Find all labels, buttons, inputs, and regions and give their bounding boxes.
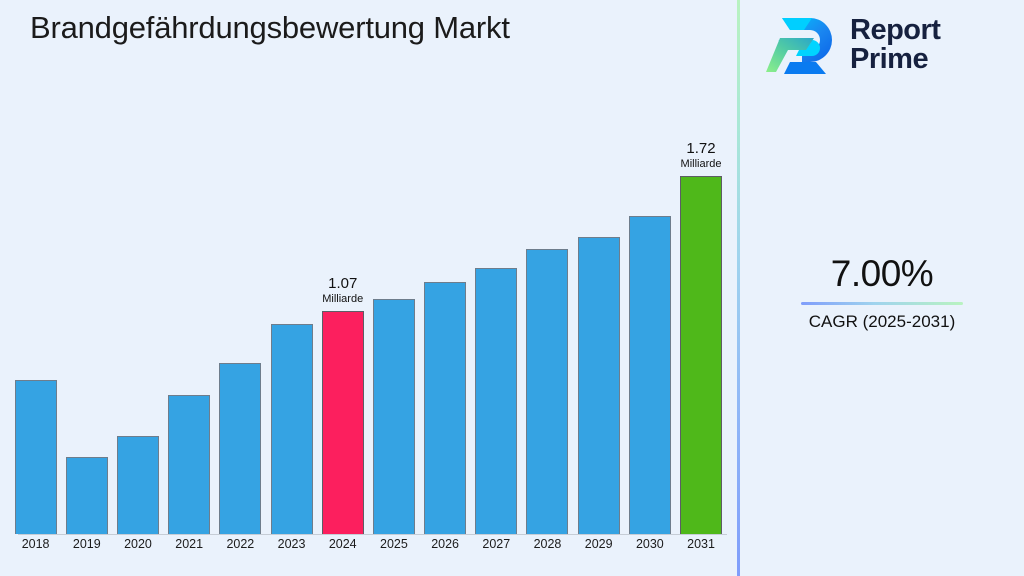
bar-value-2031: 1.72 [681, 141, 722, 158]
cagr-divider-rule [801, 302, 963, 305]
x-tick-2025: 2025 [368, 537, 419, 551]
bar-2031[interactable] [680, 176, 722, 534]
cagr-label: CAGR (2025-2031) [740, 312, 1024, 332]
brand-name-line1: Report [850, 16, 940, 45]
bar-slot-2018 [10, 120, 61, 534]
x-tick-2018: 2018 [10, 537, 61, 551]
bar-2026[interactable] [424, 282, 466, 534]
chart-plot-area: 1.07Milliarde1.72Milliarde [10, 120, 727, 535]
brand-name: Report Prime [850, 16, 940, 74]
bar-value-label-2031: 1.72Milliarde [681, 141, 722, 170]
report-prime-logo-icon [766, 12, 840, 78]
x-tick-2022: 2022 [215, 537, 266, 551]
cagr-value: 7.00% [740, 255, 1024, 294]
bar-2027[interactable] [475, 268, 517, 534]
brand-logo: Report Prime [766, 12, 940, 78]
bar-series: 1.07Milliarde1.72Milliarde [10, 120, 727, 534]
bar-slot-2028 [522, 120, 573, 534]
x-tick-2019: 2019 [61, 537, 112, 551]
x-tick-2029: 2029 [573, 537, 624, 551]
bar-slot-2021 [164, 120, 215, 534]
bar-2030[interactable] [629, 216, 671, 534]
bar-slot-2027 [471, 120, 522, 534]
bar-slot-2022 [215, 120, 266, 534]
brand-name-line2: Prime [850, 45, 940, 74]
cagr-block: 7.00% CAGR (2025-2031) [740, 255, 1024, 332]
x-tick-2020: 2020 [112, 537, 163, 551]
bar-value-label-2024: 1.07Milliarde [322, 276, 363, 305]
bar-2020[interactable] [117, 436, 159, 534]
bar-2028[interactable] [526, 249, 568, 534]
bar-2022[interactable] [219, 363, 261, 534]
bar-unit-2031: Milliarde [681, 158, 722, 170]
bar-slot-2023 [266, 120, 317, 534]
x-tick-2026: 2026 [420, 537, 471, 551]
x-axis-tick-labels: 2018201920202021202220232024202520262027… [10, 537, 727, 551]
x-tick-2023: 2023 [266, 537, 317, 551]
x-tick-2027: 2027 [471, 537, 522, 551]
bar-2018[interactable] [15, 380, 57, 534]
bar-2019[interactable] [66, 457, 108, 534]
bar-2029[interactable] [578, 237, 620, 534]
chart-panel: Brandgefährdungsbewertung Markt 1.07Mill… [0, 0, 737, 576]
slide-root: Brandgefährdungsbewertung Markt 1.07Mill… [0, 0, 1024, 576]
bar-slot-2025 [368, 120, 419, 534]
x-tick-2030: 2030 [624, 537, 675, 551]
x-tick-2031: 2031 [675, 537, 726, 551]
bar-slot-2019 [61, 120, 112, 534]
x-tick-2024: 2024 [317, 537, 368, 551]
bar-unit-2024: Milliarde [322, 293, 363, 305]
bar-2024[interactable] [322, 311, 364, 534]
bar-slot-2026 [420, 120, 471, 534]
bar-slot-2029 [573, 120, 624, 534]
bar-slot-2024: 1.07Milliarde [317, 120, 368, 534]
page-title: Brandgefährdungsbewertung Markt [30, 10, 510, 46]
bar-slot-2030 [624, 120, 675, 534]
x-tick-2021: 2021 [164, 537, 215, 551]
x-tick-2028: 2028 [522, 537, 573, 551]
side-panel: Report Prime 7.00% CAGR (2025-2031) [740, 0, 1024, 576]
bar-value-2024: 1.07 [322, 276, 363, 293]
x-axis-line [18, 534, 727, 535]
bar-slot-2020 [112, 120, 163, 534]
bar-2023[interactable] [271, 324, 313, 534]
bar-2025[interactable] [373, 299, 415, 534]
bar-slot-2031: 1.72Milliarde [675, 120, 726, 534]
bar-2021[interactable] [168, 395, 210, 534]
